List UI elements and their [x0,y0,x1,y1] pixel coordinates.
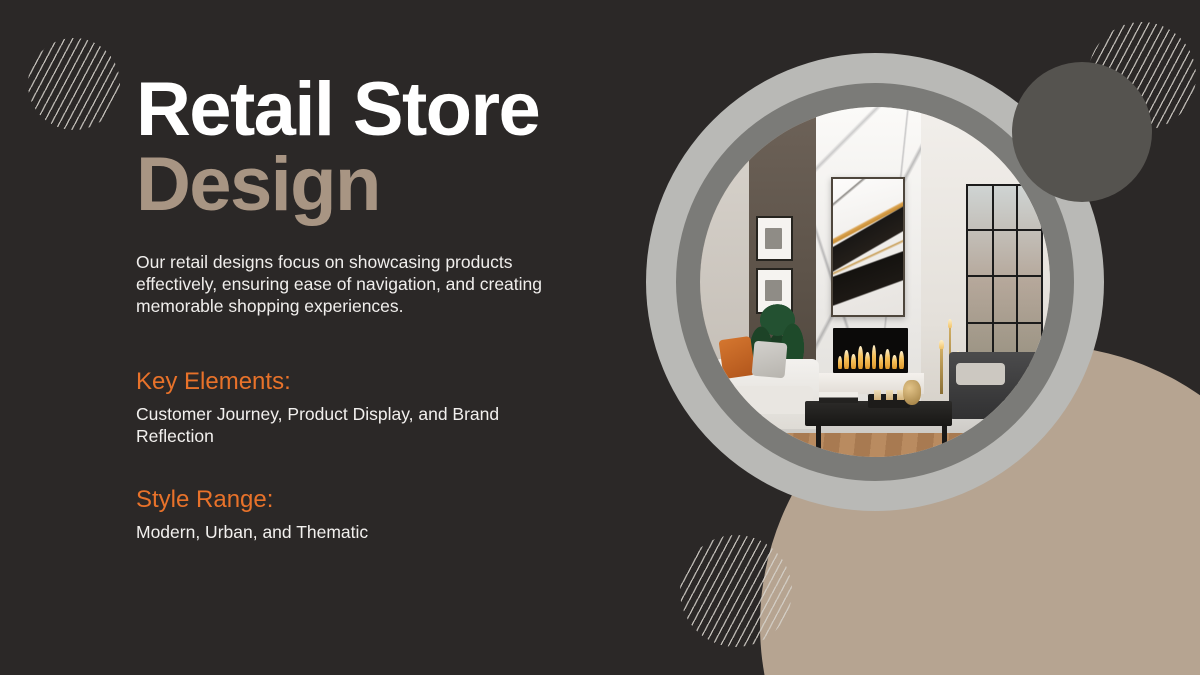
grey-cushion [751,340,787,378]
fireplace [833,328,908,374]
gold-vase [903,380,921,405]
text-content: Retail Store Design Our retail designs f… [136,0,676,543]
page-title: Retail Store Design [136,74,676,224]
section-key-elements: Key Elements: Customer Journey, Product … [136,367,676,447]
hatched-circle-top-left-icon [28,38,120,130]
hatched-circle-bottom-icon [680,535,792,647]
wood-floor [700,433,1050,458]
slide-canvas: Retail Store Design Our retail designs f… [0,0,1200,675]
section-style-range: Style Range: Modern, Urban, and Thematic [136,485,676,543]
dark-accent-circle [1012,62,1152,202]
books-on-table [819,392,858,403]
interior-photo [700,107,1050,457]
subtitle-text: Our retail designs focus on showcasing p… [136,251,588,317]
title-line-2: Design [136,146,676,224]
orange-cushion [718,336,755,379]
title-line-1: Retail Store [136,74,676,146]
interior-photo-artwork [700,107,1050,457]
section-body-key-elements: Customer Journey, Product Display, and B… [136,403,576,447]
marble-artwork-canvas [831,177,905,317]
framed-picture-upper [756,216,793,262]
fireplace-flames [838,343,904,369]
section-heading-style-range: Style Range: [136,485,676,515]
section-body-style-range: Modern, Urban, and Thematic [136,521,576,543]
black-sofa [949,352,1044,419]
section-heading-key-elements: Key Elements: [136,367,676,397]
